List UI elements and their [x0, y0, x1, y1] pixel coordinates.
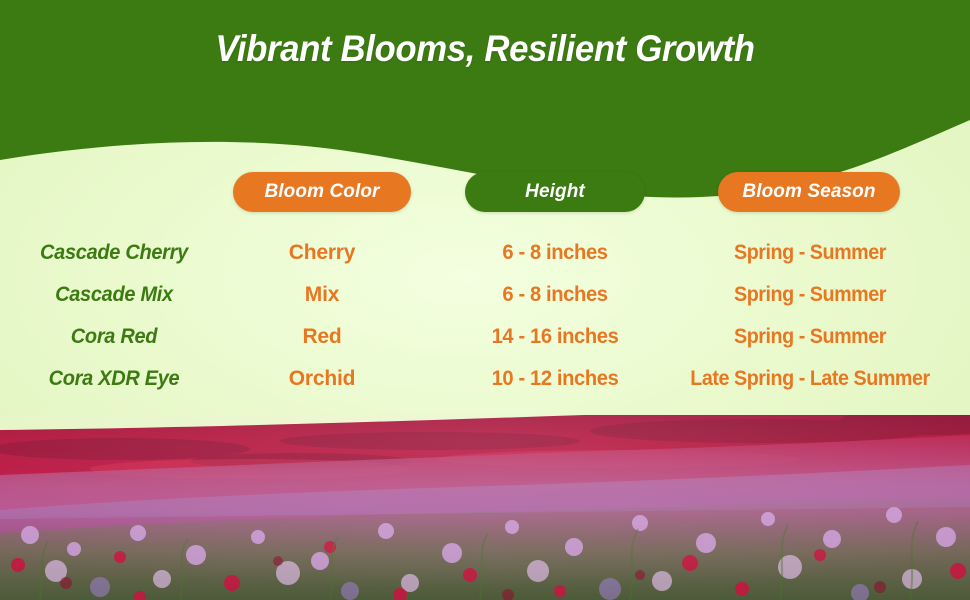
comparison-table: Cascade Cherry Cherry 6 - 8 inches Sprin…: [0, 232, 970, 400]
table-row: Cascade Mix Mix 6 - 8 inches Spring - Su…: [0, 274, 970, 316]
cell-bloom-season: Spring - Summer: [669, 274, 951, 316]
cell-height: 6 - 8 inches: [459, 232, 651, 274]
table-row: Cora XDR Eye Orchid 10 - 12 inches Late …: [0, 358, 970, 400]
cell-bloom-color: Cherry: [233, 232, 411, 274]
column-header-bloom-season[interactable]: Bloom Season: [718, 172, 900, 212]
cell-bloom-color: Red: [233, 316, 411, 358]
column-header-bloom-color[interactable]: Bloom Color: [233, 172, 411, 212]
cell-variety: Cascade Mix: [13, 274, 214, 316]
cell-variety: Cascade Cherry: [13, 232, 214, 274]
table-row: Cascade Cherry Cherry 6 - 8 inches Sprin…: [0, 232, 970, 274]
cell-variety: Cora XDR Eye: [13, 358, 214, 400]
cell-bloom-color: Mix: [233, 274, 411, 316]
cell-bloom-season: Spring - Summer: [669, 232, 951, 274]
table-row: Cora Red Red 14 - 16 inches Spring - Sum…: [0, 316, 970, 358]
cell-bloom-season: Late Spring - Late Summer: [669, 358, 951, 400]
cell-height: 6 - 8 inches: [459, 274, 651, 316]
cell-bloom-season: Spring - Summer: [669, 316, 951, 358]
cell-height: 14 - 16 inches: [459, 316, 651, 358]
cell-variety: Cora Red: [13, 316, 214, 358]
page-title: Vibrant Blooms, Resilient Growth: [29, 28, 941, 70]
flower-field-photo: [0, 415, 970, 600]
cell-height: 10 - 12 inches: [459, 358, 651, 400]
cell-bloom-color: Orchid: [233, 358, 411, 400]
column-header-height[interactable]: Height: [465, 172, 645, 212]
infographic-card: Vibrant Blooms, Resilient Growth Bloom C…: [0, 0, 970, 600]
